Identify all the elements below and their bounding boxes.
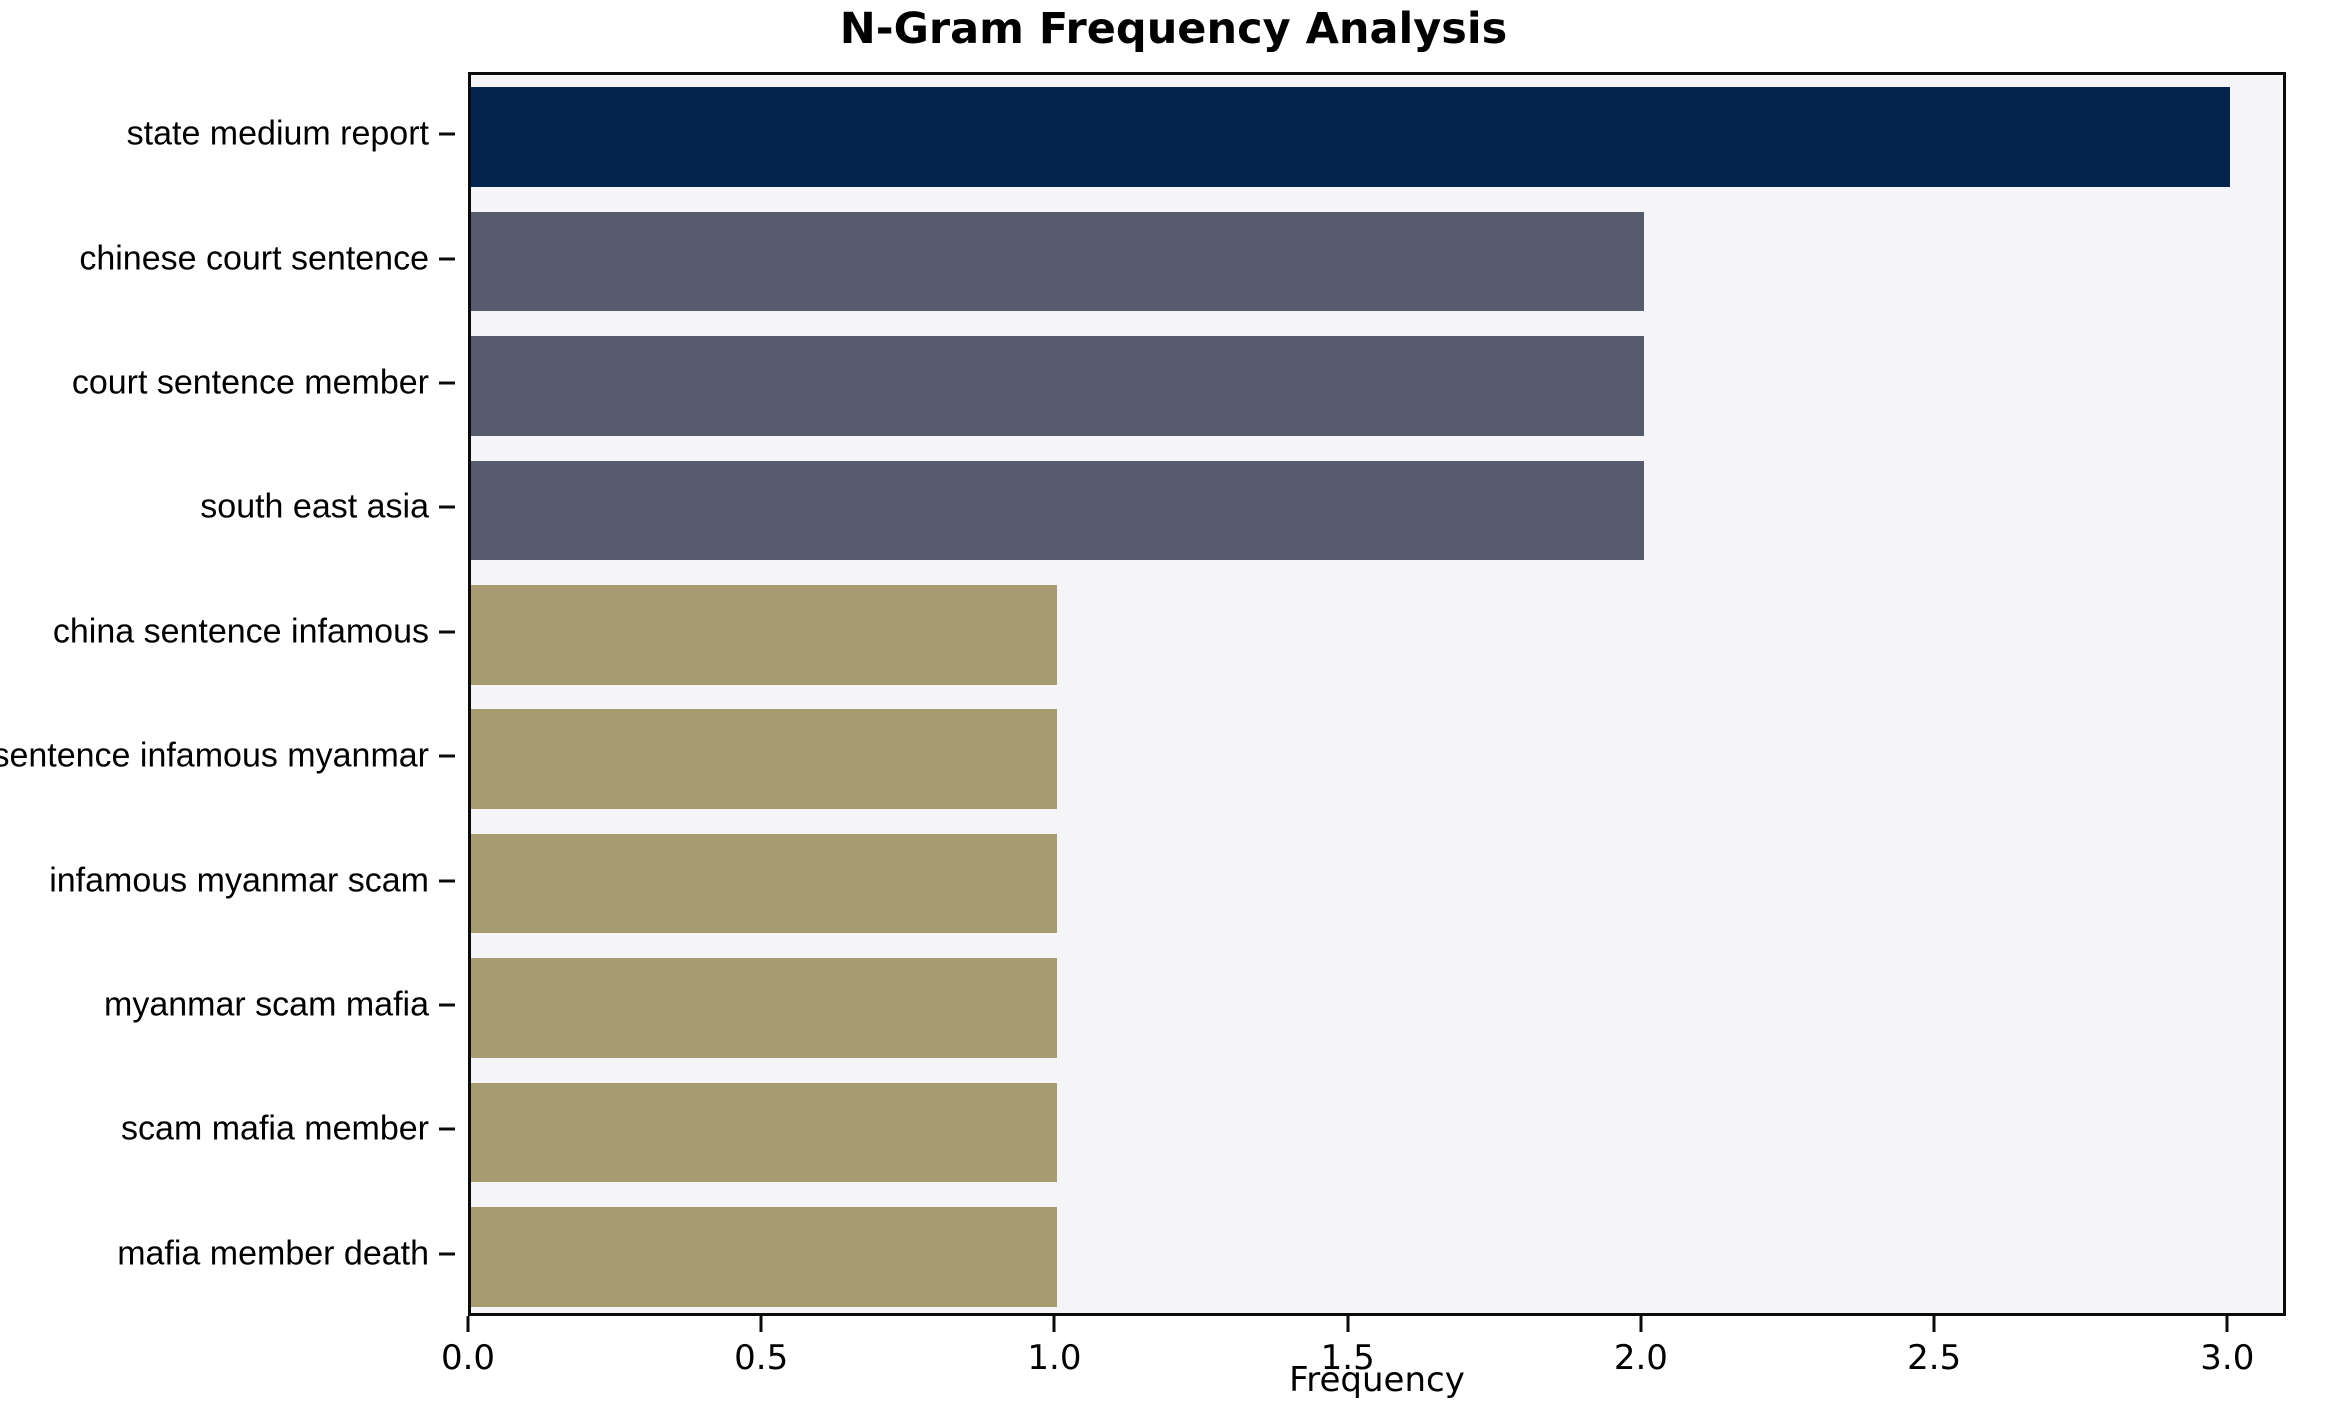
chart-title: N-Gram Frequency Analysis [0, 4, 2347, 54]
y-tick-label: chinese court sentence [79, 239, 429, 278]
x-tick-mark [467, 1316, 470, 1332]
x-tick-mark [760, 1316, 763, 1332]
chart-figure: N-Gram Frequency Analysis state medium r… [0, 0, 2347, 1414]
y-tick-mark [439, 133, 455, 136]
x-tick-mark [1053, 1316, 1056, 1332]
bar [471, 87, 2230, 187]
bar [471, 958, 1057, 1058]
y-tick-mark [439, 879, 455, 882]
y-tick-mark [439, 755, 455, 758]
y-tick-label: south east asia [200, 488, 429, 527]
y-tick-label: scam mafia member [121, 1110, 429, 1149]
plot-area [468, 72, 2286, 1316]
x-tick-mark [1346, 1316, 1349, 1332]
y-tick-mark [439, 1128, 455, 1131]
bar [471, 212, 1644, 312]
y-tick-label: mafia member death [117, 1234, 429, 1273]
bar [471, 461, 1644, 561]
y-tick-mark [439, 630, 455, 633]
y-tick-label: state medium report [127, 115, 429, 154]
x-tick-mark [2226, 1316, 2229, 1332]
y-tick-mark [439, 257, 455, 260]
bar [471, 709, 1057, 809]
x-tick-mark [1933, 1316, 1936, 1332]
y-tick-label: sentence infamous myanmar [0, 737, 429, 776]
bar [471, 585, 1057, 685]
bar [471, 1083, 1057, 1183]
bar [471, 336, 1644, 436]
bar [471, 1207, 1057, 1307]
y-axis-tick-labels: state medium reportchinese court sentenc… [0, 72, 455, 1316]
x-axis-title: Frequency [468, 1360, 2286, 1400]
bar [471, 834, 1057, 934]
y-tick-mark [439, 1004, 455, 1007]
y-tick-label: myanmar scam mafia [104, 986, 429, 1025]
y-tick-mark [439, 1252, 455, 1255]
bars-layer [471, 75, 2283, 1313]
y-tick-mark [439, 382, 455, 385]
x-tick-mark [1639, 1316, 1642, 1332]
y-tick-label: court sentence member [72, 364, 429, 403]
y-tick-label: infamous myanmar scam [49, 861, 429, 900]
y-tick-mark [439, 506, 455, 509]
y-tick-label: china sentence infamous [53, 612, 429, 651]
